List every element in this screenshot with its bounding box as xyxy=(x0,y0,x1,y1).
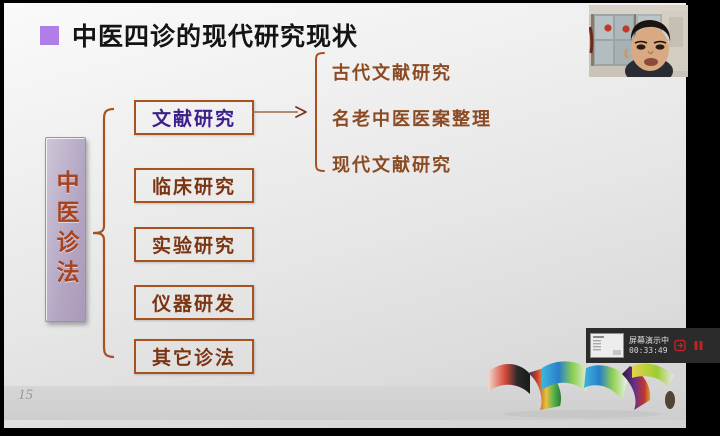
vertical-category-plaque: 中医诊法 xyxy=(45,137,86,322)
pause-share-icon[interactable] xyxy=(692,339,705,352)
item-box-2-label: 临床研究 xyxy=(152,172,236,199)
item-box-3-label: 实验研究 xyxy=(152,231,236,258)
sub-item-3[interactable]: 现代文献研究 xyxy=(332,151,452,177)
thumbnail-preview-image xyxy=(591,334,623,357)
title-bullet-square-icon xyxy=(40,26,59,45)
shared-screen-thumbnail[interactable] xyxy=(590,333,624,358)
sub-item-1[interactable]: 古代文献研究 xyxy=(332,59,452,85)
sub-brace-connector-icon xyxy=(307,51,325,173)
item-box-1-label: 文献研究 xyxy=(152,104,236,131)
webcam-frame-image xyxy=(589,5,688,77)
item-box-5-label: 其它诊法 xyxy=(152,343,236,370)
slide-title-row: 中医四诊的现代研究现状 xyxy=(40,17,358,53)
item-box-4-label: 仪器研发 xyxy=(152,289,236,316)
video-conference-screen: 中医四诊的现代研究现状 中医诊法 文献研究 临床研究 实验研究 仪器研发 其它诊… xyxy=(0,0,720,436)
share-status-label: 屏幕演示中 xyxy=(629,336,669,345)
item-box-2[interactable]: 临床研究 xyxy=(134,168,254,203)
slide-page-number: 15 xyxy=(18,387,33,404)
stop-share-icon[interactable] xyxy=(674,339,687,352)
item-box-5[interactable]: 其它诊法 xyxy=(134,339,254,374)
presenter-webcam-video[interactable] xyxy=(589,5,688,77)
item-box-4[interactable]: 仪器研发 xyxy=(134,285,254,320)
sub-item-2[interactable]: 名老中医医案整理 xyxy=(332,105,492,131)
item-box-3[interactable]: 实验研究 xyxy=(134,227,254,262)
arrow-right-icon xyxy=(252,101,308,123)
page-title: 中医四诊的现代研究现状 xyxy=(72,17,358,53)
presentation-slide: 中医四诊的现代研究现状 中医诊法 文献研究 临床研究 实验研究 仪器研发 其它诊… xyxy=(4,3,686,428)
vertical-category-label: 中医诊法 xyxy=(54,170,77,290)
screen-share-toolbar[interactable]: 屏幕演示中 00:33:49 xyxy=(586,328,720,363)
item-box-1[interactable]: 文献研究 xyxy=(134,100,254,135)
main-brace-connector-icon xyxy=(92,106,114,360)
share-timer: 00:33:49 xyxy=(629,346,669,355)
share-status-text-group: 屏幕演示中 00:33:49 xyxy=(629,336,669,355)
